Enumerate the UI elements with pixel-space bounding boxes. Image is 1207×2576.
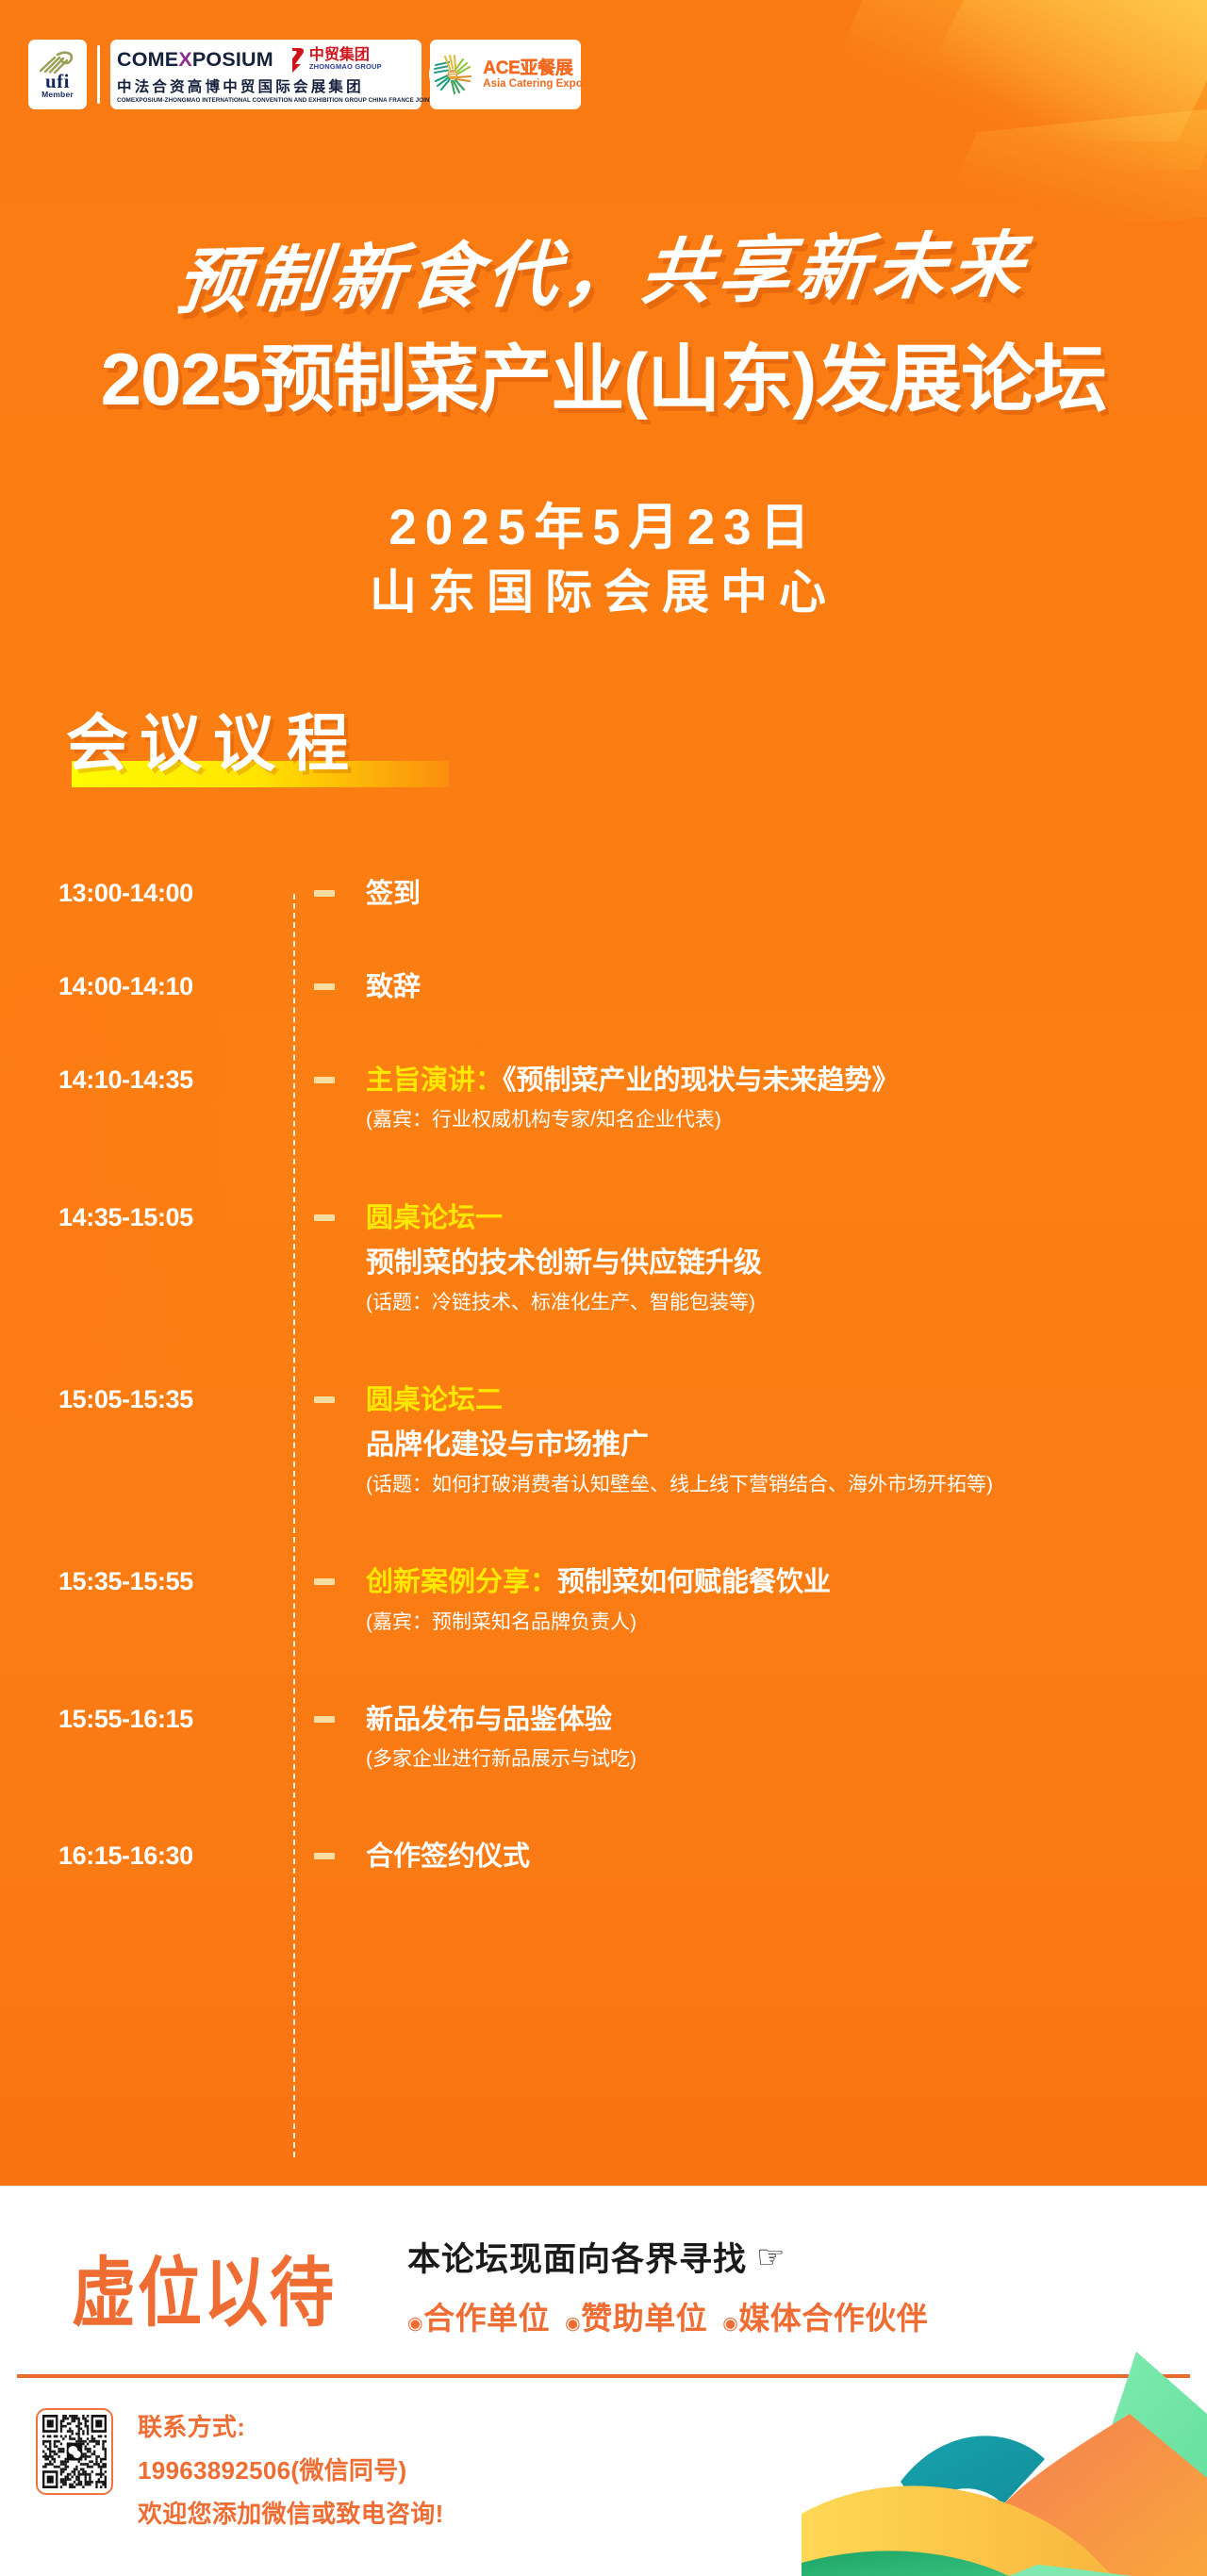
bullet-icon: ◉: [407, 2314, 423, 2334]
ufi-member-label: Member: [41, 90, 74, 99]
hero-date-venue: 2025年5月23日 山东国际会展中心: [0, 498, 1207, 621]
agenda-row-note: (嘉宾：行业权威机构专家/知名企业代表): [366, 1107, 1207, 1132]
sponsor-call-section: 虚位以待 本论坛现面向各界寻找 ☞ ◉合作单位 ◉赞助单位 ◉媒体合作伙伴: [0, 2186, 1207, 2365]
comexposium-zhongmao-logo: COMEXPOSIUM 中贸集团 ZHONGMAO GROUP 中法合资高博中贸…: [110, 40, 422, 109]
agenda-row-title: 合作签约仪式: [366, 1840, 1207, 1874]
agenda-row-time: 15:55-16:15: [58, 1703, 293, 1734]
logo-bar: ufi Member COMEXPOSIUM 中贸集团 ZHONGMAO GRO: [28, 38, 581, 111]
timeline-marker: [294, 1383, 355, 1403]
agenda-heading: 会议议程: [66, 693, 360, 784]
decorative-ray: [895, 0, 1207, 141]
ufi-logo-text: ufi: [45, 74, 70, 90]
agenda-row-body: 致辞: [355, 970, 1207, 1005]
agenda-row-title: 圆桌论坛二: [366, 1383, 1207, 1418]
agenda-row: 16:15-16:30合作签约仪式: [0, 1840, 1207, 1874]
comexposium-part-2: POSIUM: [192, 48, 273, 71]
event-date: 2025年5月23日: [0, 498, 1207, 559]
sponsor-headline: 虚位以待: [72, 2231, 336, 2341]
timeline-marker: [294, 970, 355, 990]
pointing-hand-icon: ☞: [756, 2241, 785, 2273]
sponsor-item: ◉赞助单位: [565, 2293, 707, 2338]
agenda-row-title-main: 预制菜如何赋能餐饮业: [557, 1567, 831, 1597]
ace-cn-text: ACE亚餐展: [483, 59, 582, 77]
agenda-row-body: 合作签约仪式: [355, 1840, 1207, 1874]
agenda-row-body: 圆桌论坛二品牌化建设与市场推广(话题：如何打破消费者认知壁垒、线上线下营销结合、…: [355, 1383, 1207, 1497]
agenda-row-time: 15:35-15:55: [58, 1565, 293, 1596]
hero-slogan: 预制新食代，共享新未来: [0, 203, 1207, 332]
agenda-row-body: 新品发布与品鉴体验(多家企业进行新品展示与试吃): [355, 1703, 1207, 1772]
contact-label: 联系方式:: [138, 2408, 444, 2443]
sponsor-item-label: 媒体合作伙伴: [738, 2301, 928, 2336]
sponsor-item-label: 赞助单位: [581, 2301, 707, 2336]
zhongmao-group-logo: 中贸集团 ZHONGMAO GROUP: [281, 46, 382, 74]
agenda-row-body: 签到: [355, 877, 1207, 912]
sponsor-subline: 本论坛现面向各界寻找 ☞: [407, 2233, 928, 2281]
agenda-row-title-accent: 创新案例分享：: [366, 1567, 557, 1597]
timeline-marker: [294, 877, 355, 897]
agenda-row-body: 主旨演讲：《预制菜产业的现状与未来趋势》(嘉宾：行业权威机构专家/知名企业代表): [355, 1064, 1207, 1132]
sponsor-item: ◉合作单位: [407, 2293, 550, 2338]
ace-asia-catering-expo-logo: ACE亚餐展 Asia Catering Expo: [430, 40, 581, 109]
agenda-row: 15:05-15:35圆桌论坛二品牌化建设与市场推广(话题：如何打破消费者认知壁…: [0, 1383, 1207, 1497]
comexposium-wordmark: COMEXPOSIUM: [117, 48, 273, 72]
ace-en-text: Asia Catering Expo: [483, 79, 582, 91]
agenda-row-body: 圆桌论坛一预制菜的技术创新与供应链升级(话题：冷链技术、标准化生产、智能包装等): [355, 1201, 1207, 1315]
agenda-row-time: 14:00-14:10: [58, 970, 293, 1001]
agenda-row-time: 14:35-15:05: [58, 1201, 293, 1232]
agenda-row: 14:10-14:35主旨演讲：《预制菜产业的现状与未来趋势》(嘉宾：行业权威机…: [0, 1064, 1207, 1132]
agenda-heading-text: 会议议程: [66, 708, 360, 778]
poster-root: ufi Member COMEXPOSIUM 中贸集团 ZHONGMAO GRO: [0, 0, 1207, 2576]
agenda-row-body: 创新案例分享：预制菜如何赋能餐饮业(嘉宾：预制菜知名品牌负责人): [355, 1565, 1207, 1634]
qr-code-image: [42, 2415, 107, 2488]
bullet-icon: ◉: [565, 2314, 581, 2334]
footer-divider: [17, 2374, 1190, 2378]
agenda-row: 14:00-14:10致辞: [0, 970, 1207, 1005]
agenda-row-subtitle: 预制菜的技术创新与供应链升级: [366, 1245, 1207, 1281]
agenda-row-time: 16:15-16:30: [58, 1840, 293, 1871]
event-venue: 山东国际会展中心: [0, 563, 1207, 621]
agenda-row-title: 致辞: [366, 970, 1207, 1005]
agenda-row-note: (话题：如何打破消费者认知壁垒、线上线下营销结合、海外市场开拓等): [366, 1472, 1207, 1497]
zhongmao-dragon-icon: [281, 46, 306, 74]
timeline-marker: [294, 1703, 355, 1723]
agenda-row-title: 主旨演讲：《预制菜产业的现状与未来趋势》: [366, 1064, 1207, 1098]
agenda-row-subtitle: 品牌化建设与市场推广: [366, 1427, 1207, 1463]
timeline-marker: [294, 1840, 355, 1859]
agenda-row-title: 新品发布与品鉴体验: [366, 1703, 1207, 1738]
agenda-row: 15:55-16:15新品发布与品鉴体验(多家企业进行新品展示与试吃): [0, 1703, 1207, 1772]
bullet-icon: ◉: [722, 2314, 738, 2334]
agenda-row-title-main: 《预制菜产业的现状与未来趋势》: [503, 1065, 900, 1096]
contact-cta: 欢迎您添加微信或致电咨询!: [138, 2495, 444, 2530]
sponsor-items: ◉合作单位 ◉赞助单位 ◉媒体合作伙伴: [407, 2293, 928, 2338]
sponsor-item-label: 合作单位: [423, 2301, 550, 2336]
footer-panel: 虚位以待 本论坛现面向各界寻找 ☞ ◉合作单位 ◉赞助单位 ◉媒体合作伙伴 联系…: [0, 2186, 1207, 2576]
agenda-row-note: (嘉宾：预制菜知名品牌负责人): [366, 1610, 1207, 1635]
hero-title: 2025预制菜产业(山东)发展论坛: [0, 321, 1207, 426]
zhongmao-cn-text: 中贸集团: [309, 48, 382, 63]
contact-phone[interactable]: 19963892506(微信同号): [138, 2452, 444, 2486]
decorative-ray: [794, 0, 1207, 170]
contact-section: 联系方式: 19963892506(微信同号) 欢迎您添加微信或致电咨询!: [0, 2387, 1207, 2576]
comexposium-en-line: COMEXPOSIUM-ZHONGMAO INTERNATIONAL CONVE…: [117, 97, 464, 104]
sponsor-item: ◉媒体合作伙伴: [722, 2293, 928, 2338]
wechat-qr-code[interactable]: [36, 2408, 113, 2495]
timeline-marker: [294, 1064, 355, 1083]
agenda-row-title: 创新案例分享：预制菜如何赋能餐饮业: [366, 1565, 1207, 1600]
agenda-row-note: (多家企业进行新品展示与试吃): [366, 1746, 1207, 1772]
comexposium-x: X: [178, 48, 192, 71]
agenda-row: 15:35-15:55创新案例分享：预制菜如何赋能餐饮业(嘉宾：预制菜知名品牌负…: [0, 1565, 1207, 1634]
ufi-member-logo: ufi Member: [28, 40, 87, 109]
agenda-row: 14:35-15:05圆桌论坛一预制菜的技术创新与供应链升级(话题：冷链技术、标…: [0, 1201, 1207, 1315]
agenda-row-time: 15:05-15:35: [58, 1383, 293, 1414]
agenda-row-time: 14:10-14:35: [58, 1064, 293, 1095]
timeline-marker: [294, 1201, 355, 1221]
agenda-row-note: (话题：冷链技术、标准化生产、智能包装等): [366, 1290, 1207, 1315]
sponsor-subline-text: 本论坛现面向各界寻找: [407, 2233, 747, 2281]
ace-pinwheel-icon: [428, 50, 477, 99]
ufi-wing-icon: [39, 51, 76, 74]
agenda-row-title: 签到: [366, 877, 1207, 912]
comexposium-part-1: COME: [117, 48, 178, 71]
zhongmao-en-text: ZHONGMAO GROUP: [309, 63, 382, 71]
timeline-marker: [294, 1565, 355, 1585]
agenda-row: 13:00-14:00签到: [0, 877, 1207, 912]
logo-divider: [97, 45, 100, 104]
comexposium-cn-line: 中法合资高博中贸国际会展集团: [117, 75, 364, 96]
agenda-row-title-accent: 主旨演讲：: [366, 1065, 503, 1096]
agenda-row-title: 圆桌论坛一: [366, 1201, 1207, 1236]
agenda-row-time: 13:00-14:00: [58, 877, 293, 908]
agenda-timeline: 13:00-14:00签到14:00-14:10致辞14:10-14:35主旨演…: [0, 877, 1207, 1874]
